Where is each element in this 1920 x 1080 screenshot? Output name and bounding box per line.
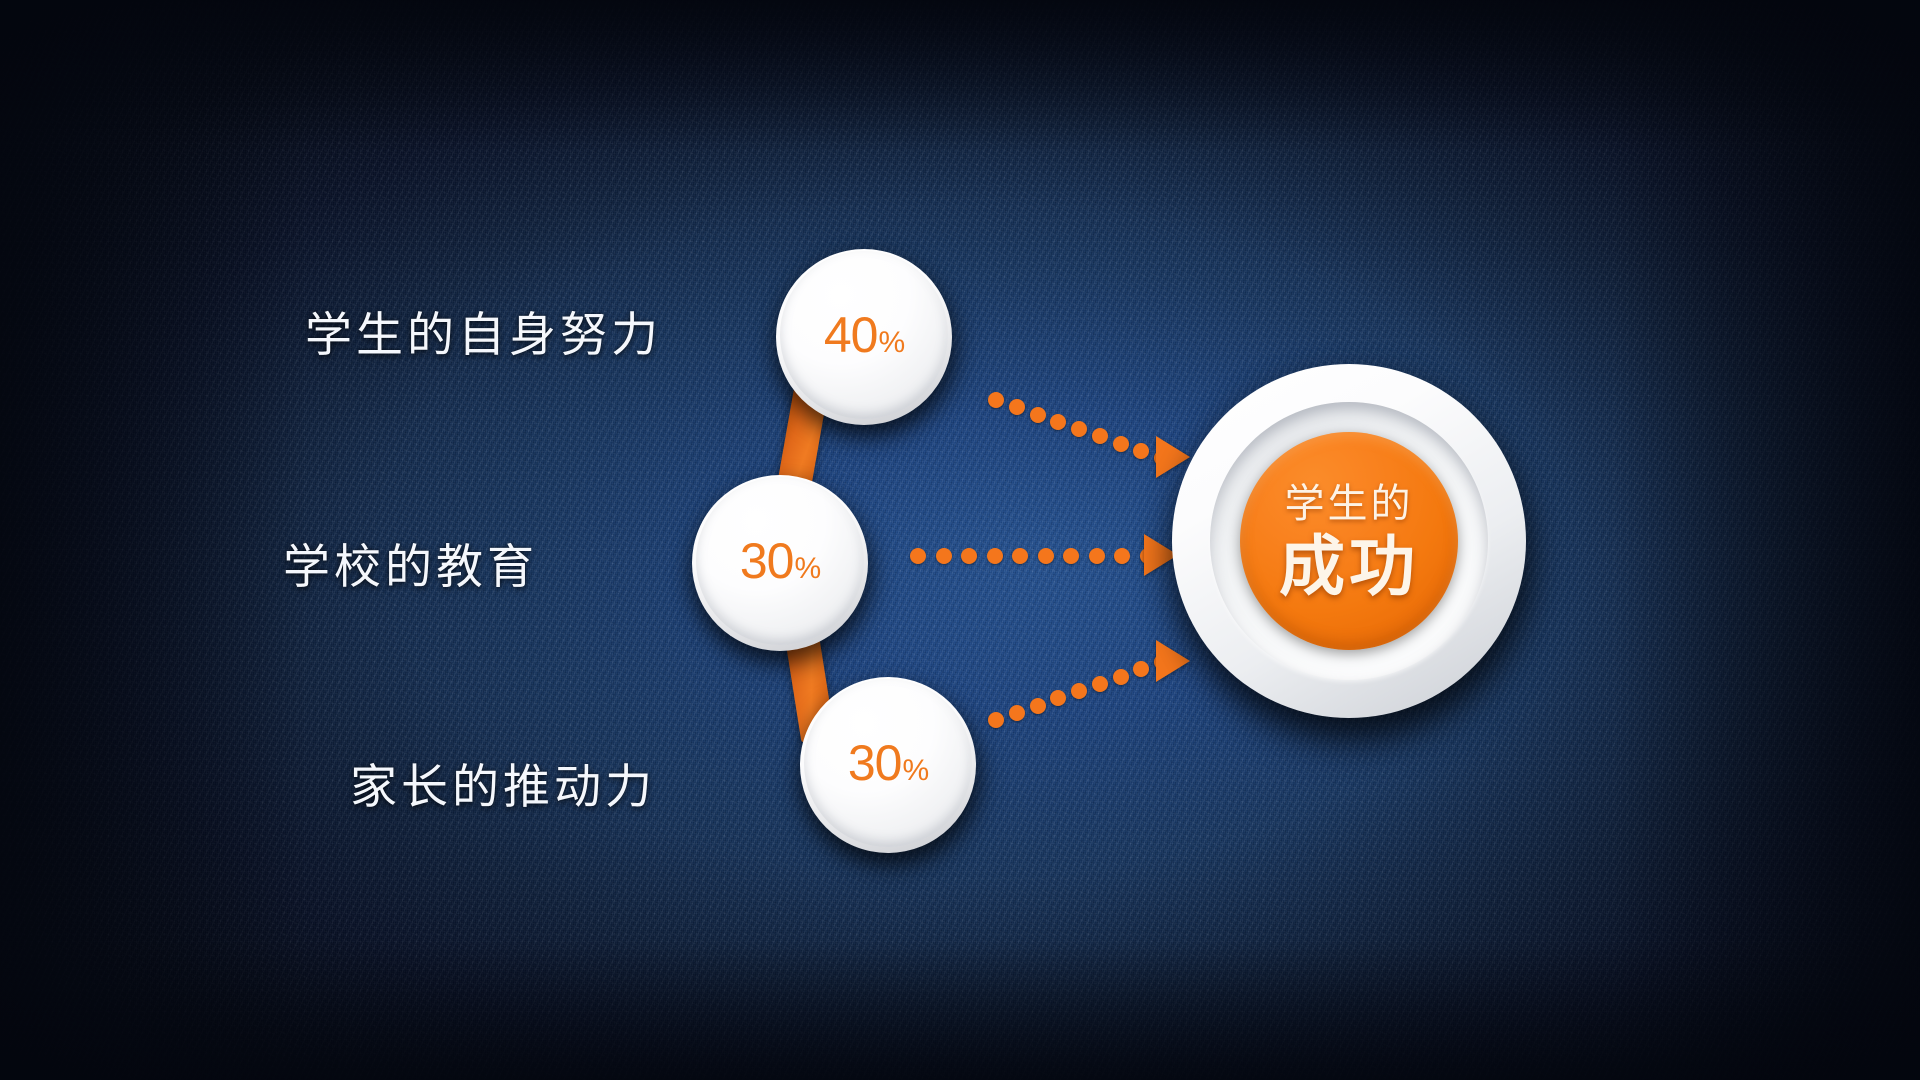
arrow-dot [1113,436,1129,452]
target-core: 学生的 成功 [1240,432,1458,650]
arrow-dot [1089,548,1105,564]
percent-circle-parent-push[interactable]: 30% [800,677,976,853]
arrow-dot [1030,407,1046,423]
percent-circle-face: 30% [804,679,972,847]
arrow-dot [1009,399,1025,415]
arrow-dot [1012,548,1028,564]
arrow-dot [961,548,977,564]
arrow-dot [988,712,1004,728]
factor-label-student-effort: 学生的自身努力 [305,296,662,365]
factor-label-school-education: 学校的教育 [283,528,538,597]
arrow-right-icon [908,530,1198,580]
percent-value-parent-push: 30% [848,738,928,788]
arrow-dot [1009,705,1025,721]
arrow-dot [1071,683,1087,699]
target-label-top: 学生的 [1285,484,1414,524]
percent-circle-student-effort[interactable]: 40% [776,249,952,425]
arrow-dot [1092,428,1108,444]
arrow-dot [1113,669,1129,685]
arrow-dot [936,548,952,564]
arrow-dot [1114,548,1130,564]
percent-number: 40 [824,310,878,360]
percent-sign: % [878,328,904,358]
percent-value-student-effort: 40% [824,310,904,360]
arrow-dot [1133,661,1149,677]
percent-number: 30 [740,536,794,586]
percent-number: 30 [848,738,902,788]
arrow-dot [1133,443,1149,459]
percent-sign: % [902,756,928,786]
arrow-dot [1063,548,1079,564]
arrow-dot [1071,421,1087,437]
percent-circle-school-education[interactable]: 30% [692,475,868,651]
arrow-dot [1050,414,1066,430]
percent-sign: % [794,554,820,584]
percent-value-school-education: 30% [740,536,820,586]
arrow-dot [987,548,1003,564]
slide-canvas: 学生的自身努力 学校的教育 家长的推动力 40% 30% 30% [0,0,1920,1080]
arrow-dot [1092,676,1108,692]
percent-circle-face: 40% [780,251,948,419]
target-label-bottom: 成功 [1279,533,1419,599]
arrow-dot [988,392,1004,408]
percent-circle-face: 30% [696,477,864,645]
factor-label-parent-push: 家长的推动力 [350,748,656,817]
arrow-dot [1050,690,1066,706]
target-success-circle[interactable]: 学生的 成功 [1168,364,1538,734]
arrow-dot [1030,698,1046,714]
arrow-dot [910,548,926,564]
arrow-dot [1038,548,1054,564]
